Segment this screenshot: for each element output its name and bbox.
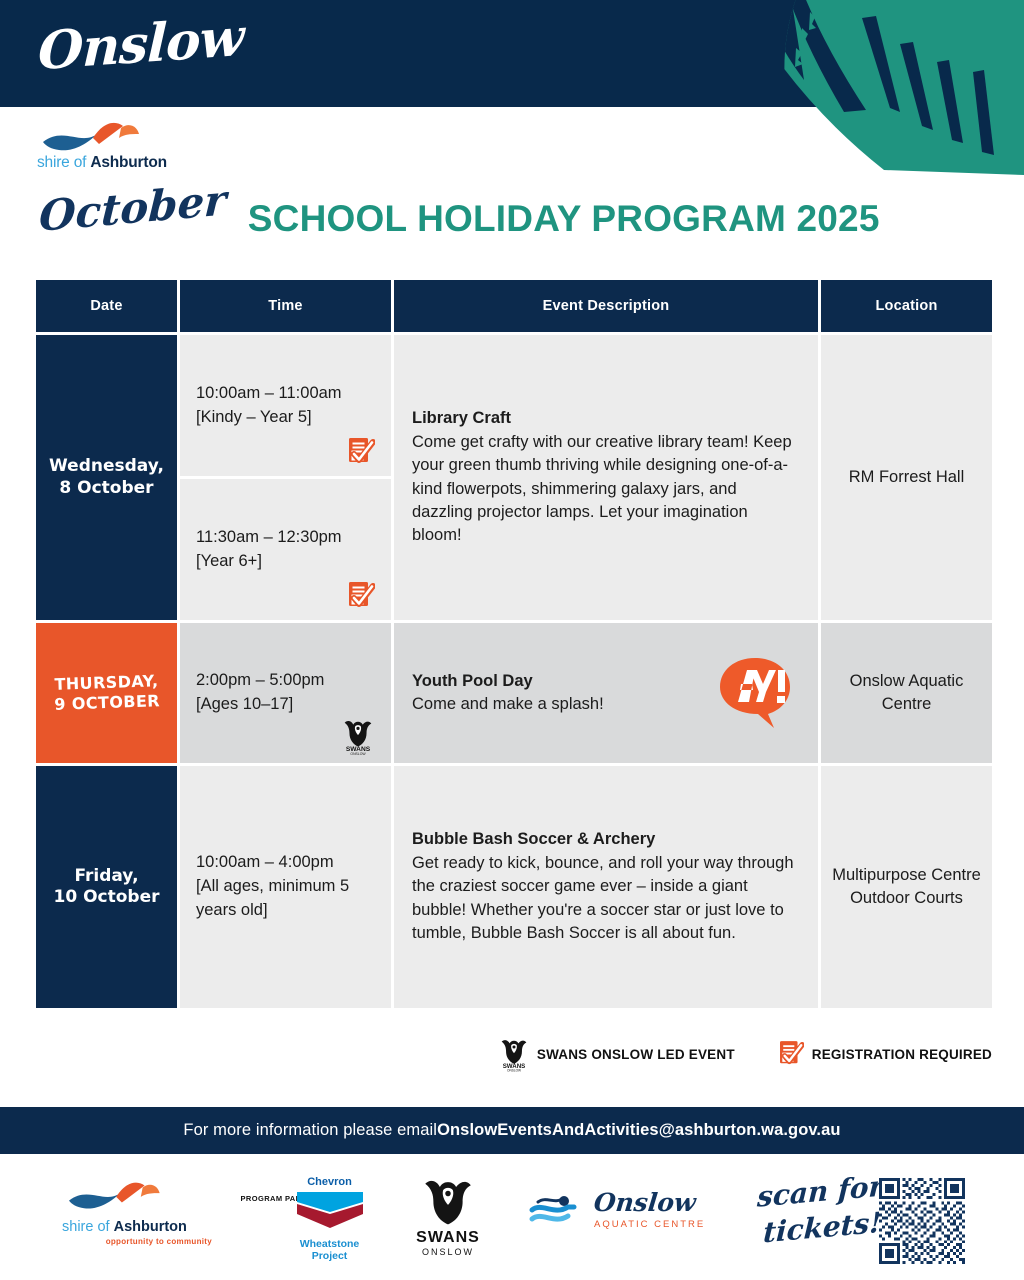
scan-line-1: scan for xyxy=(757,1172,885,1211)
title-month: October xyxy=(38,175,228,241)
legend-label-swans: SWANS ONSLOW LED EVENT xyxy=(537,1047,735,1062)
time-slot: 10:00am – 4:00pm [All ages, minimum 5 ye… xyxy=(180,766,391,1008)
legend-item-registration: REGISTRATION REQUIRED xyxy=(780,1041,992,1067)
footer-logo-bar: shire of Ashburton opportunity to commun… xyxy=(0,1162,1024,1280)
registration-required-icon xyxy=(349,438,375,466)
footer-shire-tagline: opportunity to community xyxy=(62,1237,212,1246)
time-slot-ages: [Ages 10–17] xyxy=(196,693,375,717)
footer-aquatic-sub: AQUATIC CENTRE xyxy=(594,1219,705,1230)
scan-for-tickets-text: scan for tickets! xyxy=(757,1178,884,1242)
table-row: Friday, 10 October 10:00am – 4:00pm [All… xyxy=(36,766,989,1008)
swimmer-icon xyxy=(528,1192,584,1226)
row-date-text: Wednesday, 8 October xyxy=(49,456,164,499)
time-slot: 10:00am – 11:00am [Kindy – Year 5] xyxy=(180,335,391,476)
time-slot: 2:00pm – 5:00pm [Ages 10–17] SWANS ONSLO… xyxy=(180,623,391,763)
footer-aquatic-centre-logo: Onslow AQUATIC CENTRE xyxy=(528,1188,705,1230)
svg-text:ONSLOW: ONSLOW xyxy=(350,752,366,755)
swans-onslow-icon: SWANS ONSLOW xyxy=(499,1036,529,1072)
footer-chevron-logo: Chevron Wheatstone Project xyxy=(282,1176,377,1262)
time-slot-ages: [All ages, minimum 5 years old] xyxy=(196,875,375,923)
legend-label-registration: REGISTRATION REQUIRED xyxy=(812,1047,992,1062)
qr-code[interactable] xyxy=(879,1178,965,1264)
row-location-cell: RM Forrest Hall xyxy=(821,335,992,620)
event-title: Bubble Bash Soccer & Archery xyxy=(412,828,800,851)
row-date-text: THURSDAY, 9 OCTOBER xyxy=(53,671,160,715)
svg-text:ONSLOW: ONSLOW xyxy=(507,1069,521,1072)
footer-swans-name: SWANS xyxy=(405,1229,491,1247)
table-header-row: Date Time Event Description Location xyxy=(36,280,989,332)
shire-of-ashburton-logo: shire of Ashburton xyxy=(37,118,197,178)
footer-shire-dark: Ashburton xyxy=(114,1219,187,1235)
legend: SWANS ONSLOW SWANS ONSLOW LED EVENT REGI… xyxy=(0,1036,1024,1072)
row-location-cell: Onslow Aquatic Centre xyxy=(821,623,992,763)
ay-youth-logo-icon xyxy=(716,656,794,730)
time-slot: 11:30am – 12:30pm [Year 6+] xyxy=(180,479,391,620)
contact-email-address[interactable]: OnslowEventsAndActivities@ashburton.wa.g… xyxy=(437,1121,841,1140)
chevron-label: Chevron xyxy=(282,1176,377,1188)
row-date-text: Friday, 10 October xyxy=(54,866,160,909)
column-header-date: Date xyxy=(36,280,177,332)
swans-onslow-icon: SWANS ONSLOW xyxy=(341,717,375,755)
footer-aquatic-name: Onslow xyxy=(592,1188,706,1217)
column-header-location: Location xyxy=(821,280,992,332)
registration-required-icon xyxy=(349,582,375,610)
column-header-time: Time xyxy=(180,280,391,332)
table-row: THURSDAY, 9 OCTOBER 2:00pm – 5:00pm [Age… xyxy=(36,623,989,763)
event-body: Come get crafty with our creative librar… xyxy=(412,431,800,548)
row-date-cell: Friday, 10 October xyxy=(36,766,177,1008)
email-prefix: For more information please email xyxy=(183,1121,437,1140)
chevron-hallmark-icon xyxy=(295,1190,365,1230)
program-table: Date Time Event Description Location Wed… xyxy=(36,280,989,1011)
footer-swans-logo: SWANS ONSLOW xyxy=(405,1174,491,1257)
time-slot-range: 2:00pm – 5:00pm xyxy=(196,669,375,693)
row-location-cell: Multipurpose Centre Outdoor Courts xyxy=(821,766,992,1008)
wheatstone-label: Wheatstone Project xyxy=(282,1238,377,1262)
registration-required-icon xyxy=(780,1041,804,1067)
footer-shire-text: shire of Ashburton xyxy=(62,1219,212,1235)
contact-email-band: For more information please email Onslow… xyxy=(0,1107,1024,1154)
footer-shire-logo: shire of Ashburton opportunity to commun… xyxy=(62,1178,212,1246)
time-slot-ages: [Kindy – Year 5] xyxy=(196,406,375,430)
event-title: Library Craft xyxy=(412,407,800,430)
event-body: Get ready to kick, bounce, and roll your… xyxy=(412,852,800,946)
row-description-cell: Library Craft Come get crafty with our c… xyxy=(394,335,818,620)
shire-logo-mark-icon xyxy=(62,1178,178,1212)
onslow-wordmark: Onslow xyxy=(37,7,244,83)
shire-logo-text: shire of Ashburton xyxy=(37,154,167,172)
time-slot-range: 11:30am – 12:30pm xyxy=(196,526,375,550)
column-header-description: Event Description xyxy=(394,280,818,332)
row-description-cell: Bubble Bash Soccer & Archery Get ready t… xyxy=(394,766,818,1008)
row-date-cell: Wednesday, 8 October xyxy=(36,335,177,620)
shire-text-light: shire of xyxy=(37,154,90,171)
time-slot-ages: [Year 6+] xyxy=(196,550,375,574)
top-navy-band: Onslow xyxy=(0,0,1024,107)
poster-page: Onslow xyxy=(0,0,1024,1280)
shire-text-dark: Ashburton xyxy=(90,154,167,171)
time-slot-range: 10:00am – 11:00am xyxy=(196,382,375,406)
row-time-stack: 10:00am – 11:00am [Kindy – Year 5] 11:30… xyxy=(180,335,391,620)
table-row: Wednesday, 8 October 10:00am – 11:00am [… xyxy=(36,335,989,620)
shire-logo-mark-icon xyxy=(37,118,157,154)
time-slot-range: 10:00am – 4:00pm xyxy=(196,851,375,875)
scan-line-2: tickets! xyxy=(762,1209,884,1248)
page-title: October SCHOOL HOLIDAY PROGRAM 2025 xyxy=(38,192,880,241)
legend-item-swans: SWANS ONSLOW SWANS ONSLOW LED EVENT xyxy=(499,1036,735,1072)
footer-swans-sub: ONSLOW xyxy=(405,1247,491,1257)
row-description-cell: Youth Pool Day Come and make a splash! xyxy=(394,623,818,763)
swans-onslow-icon xyxy=(418,1174,478,1226)
title-main: SCHOOL HOLIDAY PROGRAM 2025 xyxy=(248,198,880,240)
row-date-cell: THURSDAY, 9 OCTOBER xyxy=(36,623,177,763)
footer-shire-light: shire of xyxy=(62,1219,114,1235)
